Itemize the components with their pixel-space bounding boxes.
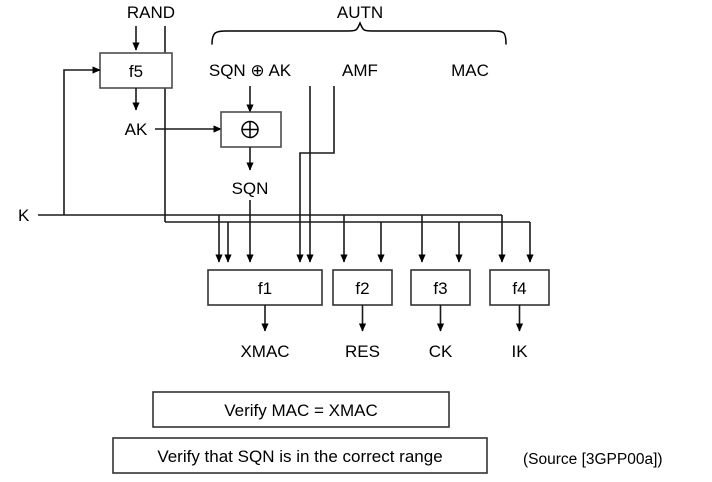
authentication-flow-diagram: AUTN SQN ⊕ AK AMF MAC RAND f5 AK xyxy=(0,0,712,482)
f2-label: f2 xyxy=(355,279,369,298)
f4-label: f4 xyxy=(512,279,526,298)
f5-label: f5 xyxy=(129,62,143,81)
sqn-xor-ak-label: SQN ⊕ AK xyxy=(209,61,292,80)
verify-mac-label: Verify MAC = XMAC xyxy=(224,401,378,420)
ak-label: AK xyxy=(125,120,148,139)
ik-label: IK xyxy=(511,342,528,361)
ck-label: CK xyxy=(429,342,453,361)
mac-label: MAC xyxy=(451,61,489,80)
autn-label: AUTN xyxy=(337,3,383,22)
rand-label: RAND xyxy=(127,3,175,22)
k-to-f5-wire xyxy=(64,70,100,215)
xor-icon xyxy=(242,122,258,138)
autn-brace xyxy=(212,23,506,44)
diagram-canvas: AUTN SQN ⊕ AK AMF MAC RAND f5 AK xyxy=(0,0,712,482)
k-label: K xyxy=(18,206,30,225)
xmac-label: XMAC xyxy=(240,342,289,361)
source-note: (Source [3GPP00a]) xyxy=(523,451,663,468)
amf-label: AMF xyxy=(342,61,378,80)
amf-to-f1-wire xyxy=(300,86,334,262)
f3-label: f3 xyxy=(433,279,447,298)
f1-label: f1 xyxy=(258,279,272,298)
sqn-label: SQN xyxy=(232,179,269,198)
res-label: RES xyxy=(345,342,380,361)
verify-sqn-label: Verify that SQN is in the correct range xyxy=(157,447,442,466)
